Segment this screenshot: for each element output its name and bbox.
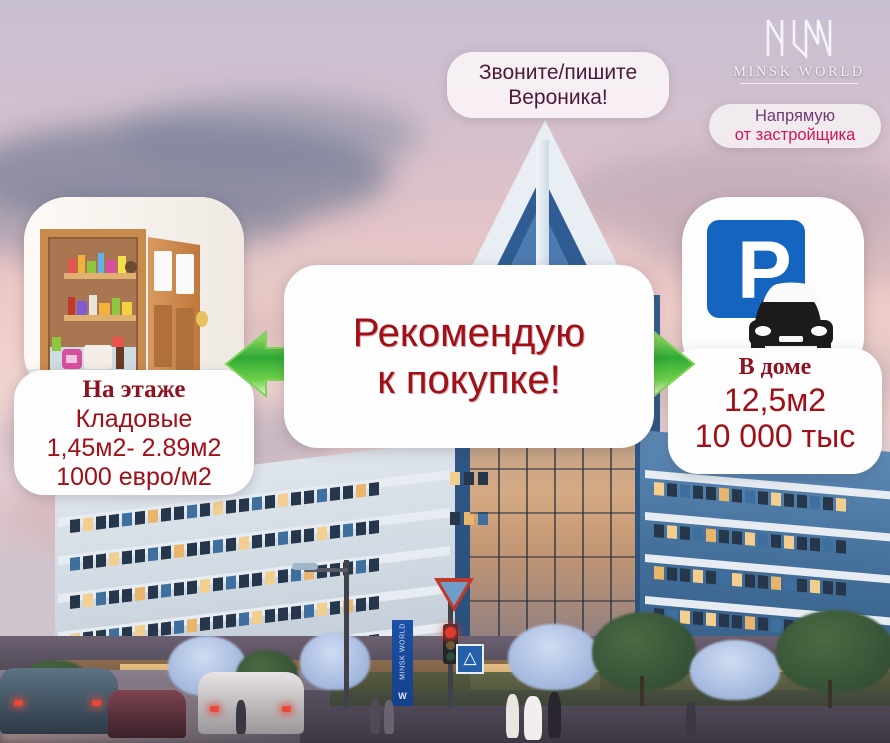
banner-text: MINSK WORLD bbox=[400, 615, 407, 689]
contact-callout: Звоните/пишите Вероника! bbox=[447, 52, 669, 118]
open-door-storage-icon bbox=[24, 197, 244, 397]
storage-line-2: 1,45м2- 2.89м2 bbox=[47, 434, 222, 463]
brand-wordmark: MINSK WORLD bbox=[733, 64, 865, 81]
tree bbox=[508, 624, 600, 690]
storage-line-3: 1000 евро/м2 bbox=[56, 463, 212, 492]
parking-line-1: 12,5м2 bbox=[724, 382, 826, 418]
pedestrian bbox=[370, 698, 380, 734]
storage-heading: На этаже bbox=[83, 375, 186, 405]
direct-from-developer-badge: Напрямую от застройщика bbox=[709, 104, 881, 148]
badge-line-2: от застройщика bbox=[735, 126, 856, 145]
callout-line-1: Звоните/пишите bbox=[479, 60, 637, 85]
parking-line-2: 10 000 тыс bbox=[695, 418, 855, 454]
storage-offer-text-panel: На этаже Кладовые 1,45м2- 2.89м2 1000 ев… bbox=[14, 370, 254, 495]
pedestrian bbox=[384, 700, 394, 734]
recommendation-card: Рекомендую к покупке! bbox=[284, 265, 654, 448]
pedestrian bbox=[686, 702, 696, 736]
callout-line-2: Вероника! bbox=[508, 85, 608, 110]
tree bbox=[690, 640, 780, 700]
traffic-light-red-icon bbox=[445, 627, 456, 638]
promo-image-canvas: MINSK WORLD W △ bbox=[0, 0, 890, 743]
badge-line-1: Напрямую bbox=[755, 107, 835, 126]
recommendation-line-2: к покупке! bbox=[377, 358, 560, 402]
pedestrian bbox=[506, 694, 519, 738]
storage-offer-card bbox=[24, 197, 244, 397]
minsk-world-street-banner: MINSK WORLD W bbox=[392, 620, 413, 706]
pedestrian-crossing-sign-icon: △ bbox=[456, 644, 484, 674]
tree bbox=[776, 610, 890, 692]
parking-sign-car-icon: P bbox=[693, 210, 853, 370]
mw-monogram-icon bbox=[760, 14, 838, 62]
car bbox=[108, 690, 186, 738]
street-lamp-pole bbox=[344, 560, 349, 708]
parking-offer-text-panel: В доме 12,5м2 10 000 тыс bbox=[668, 348, 882, 474]
pedestrian bbox=[548, 692, 561, 738]
recommendation-line-1: Рекомендую bbox=[353, 311, 586, 355]
pedestrian bbox=[236, 700, 246, 734]
brand-logo: MINSK WORLD bbox=[718, 14, 880, 98]
pedestrian bbox=[524, 696, 542, 740]
tree bbox=[592, 612, 696, 690]
logo-divider bbox=[740, 83, 858, 84]
parking-heading: В доме bbox=[739, 352, 812, 382]
storage-line-1: Кладовые bbox=[76, 405, 193, 434]
tree bbox=[300, 632, 370, 690]
banner-mw-icon: W bbox=[394, 691, 411, 701]
car bbox=[198, 672, 304, 734]
